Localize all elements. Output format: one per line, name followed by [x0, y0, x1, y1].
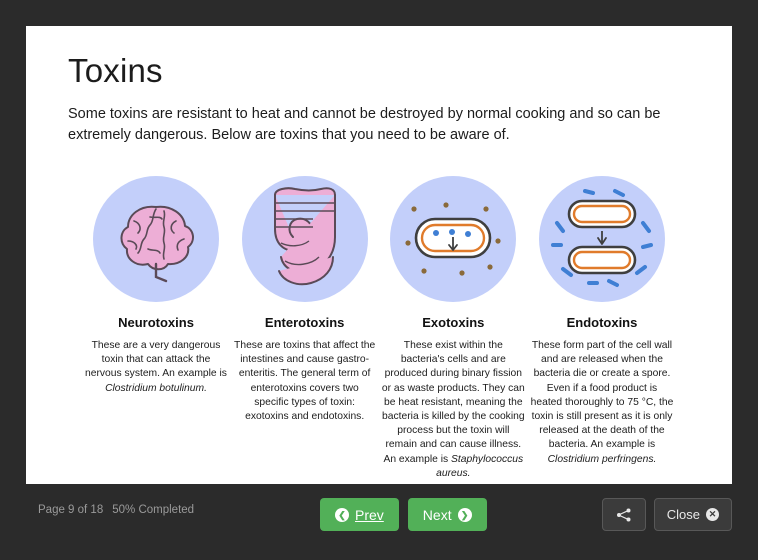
- progress-status: Page 9 of 1850% Completed: [38, 504, 194, 516]
- bacteria-cell-exotoxin-icon: [394, 189, 512, 289]
- toxin-card-list: Neurotoxins These are a very dangerous t…: [68, 176, 690, 481]
- icon-circle: [390, 176, 516, 302]
- next-button[interactable]: Next ❯: [408, 498, 487, 531]
- icon-circle-wrap: Endotoxins These form part of the cell w…: [528, 176, 676, 481]
- close-button-label: Close: [667, 507, 700, 522]
- utility-buttons: Close ✕: [602, 498, 732, 531]
- intro-paragraph: Some toxins are resistant to heat and ca…: [68, 104, 690, 146]
- card-title: Endotoxins: [567, 315, 638, 330]
- share-button[interactable]: [602, 498, 646, 531]
- chevron-right-icon: ❯: [458, 508, 472, 522]
- card-body: These exist within the bacteria's cells …: [379, 339, 527, 481]
- card-title: Neurotoxins: [118, 315, 194, 330]
- toxin-card: Exotoxins These exist within the bacteri…: [379, 176, 527, 481]
- card-body: These are toxins that affect the intesti…: [231, 339, 379, 424]
- intestines-icon: [249, 181, 361, 297]
- card-title: Exotoxins: [422, 315, 484, 330]
- brain-icon: [104, 187, 208, 291]
- prev-button-label: Prev: [355, 507, 384, 523]
- share-nodes-icon: [616, 508, 632, 522]
- prev-button[interactable]: ❮ Prev: [320, 498, 399, 531]
- close-button[interactable]: Close ✕: [654, 498, 732, 531]
- bacteria-cell-endotoxin-icon: [543, 187, 661, 291]
- close-icon: ✕: [706, 508, 719, 521]
- icon-circle: [93, 176, 219, 302]
- card-body: These form part of the cell wall and are…: [528, 339, 676, 467]
- toxin-card: Neurotoxins These are a very dangerous t…: [82, 176, 230, 481]
- next-button-label: Next: [423, 507, 452, 523]
- slide-canvas: Toxins Some toxins are resistant to heat…: [26, 26, 732, 484]
- page-title: Toxins: [68, 52, 690, 90]
- toxin-card: Enterotoxins These are toxins that affec…: [231, 176, 379, 481]
- player-footer: Page 9 of 1850% Completed ❮ Prev Next ❯: [0, 484, 758, 560]
- navigation-buttons: ❮ Prev Next ❯: [320, 498, 487, 531]
- chevron-left-icon: ❮: [335, 508, 349, 522]
- icon-circle: [539, 176, 665, 302]
- page-indicator: Page 9 of 18: [38, 504, 103, 516]
- icon-circle: [242, 176, 368, 302]
- card-body: These are a very dangerous toxin that ca…: [82, 339, 230, 396]
- completion-indicator: 50% Completed: [112, 504, 194, 516]
- presentation-stage: Toxins Some toxins are resistant to heat…: [0, 0, 758, 560]
- card-title: Enterotoxins: [265, 315, 344, 330]
